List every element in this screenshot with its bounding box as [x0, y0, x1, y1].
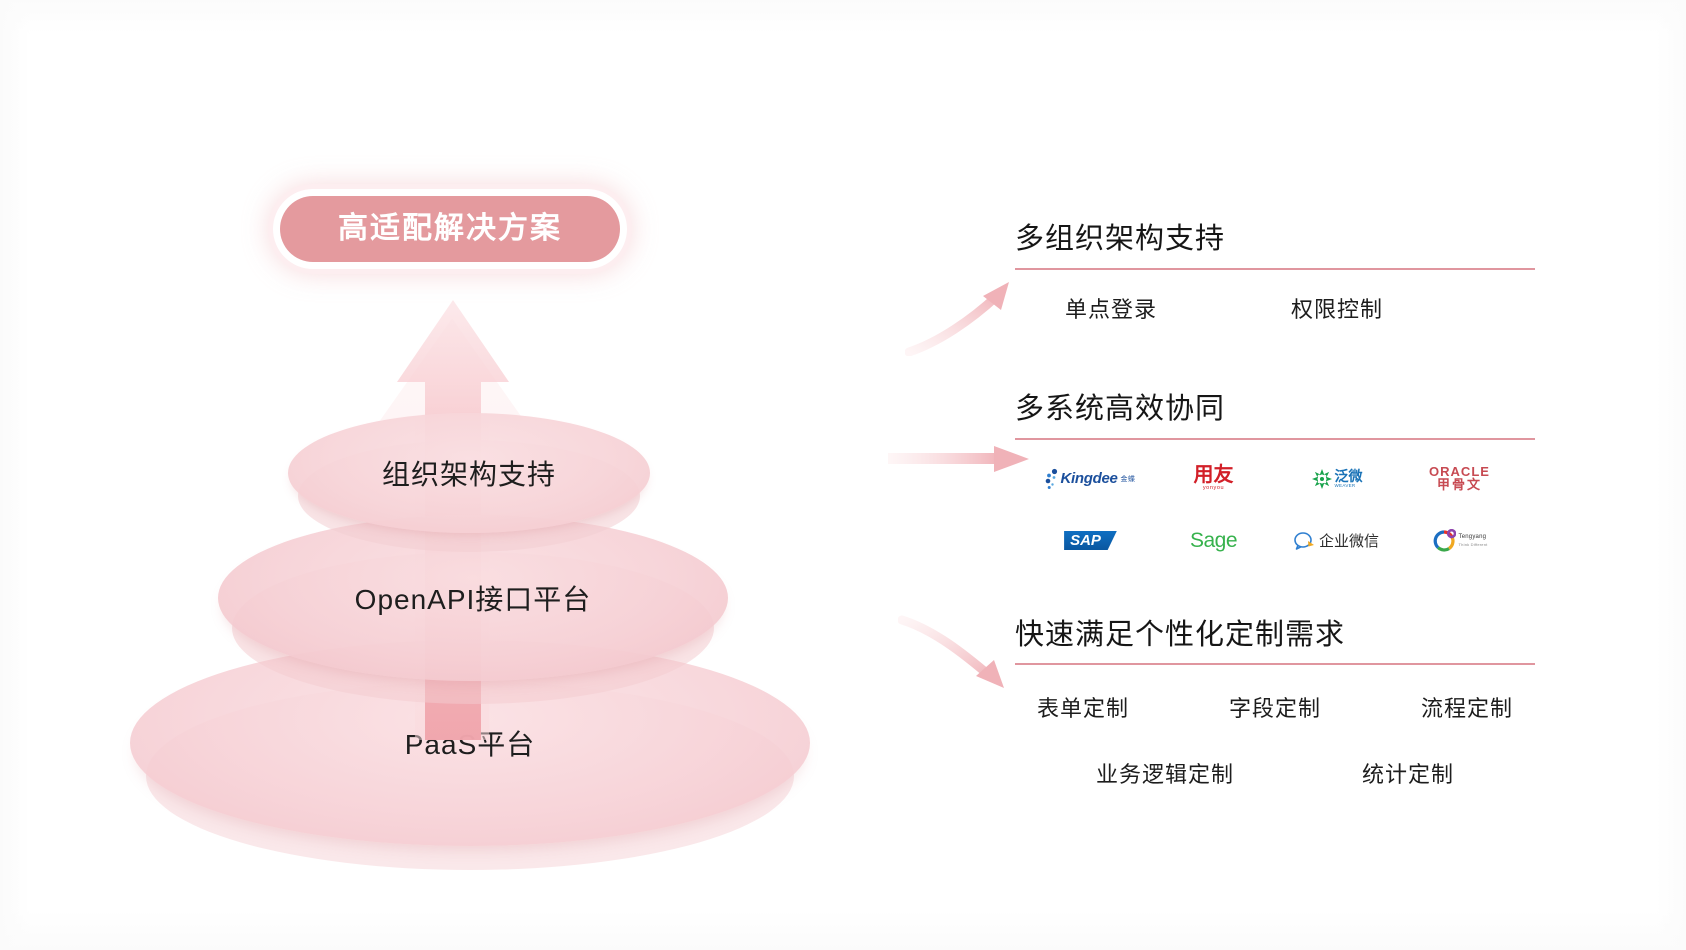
curved-arrow-up-right-icon — [905, 276, 1035, 356]
yonyou-latin-name: yonyou — [1203, 485, 1224, 491]
logo-sage[interactable]: Sage — [1190, 526, 1237, 556]
partner-logo-grid: Kingdee 金蝶 用友 yonyou — [1015, 464, 1535, 556]
section-customization-heading: 快速满足个性化定制需求 — [1015, 618, 1535, 653]
yonyou-wordmark: 用友 — [1194, 466, 1234, 485]
kingdee-dots-icon — [1045, 468, 1060, 490]
weaver-latin-name: WEAVER — [1335, 483, 1363, 488]
edge-fade-bottom — [0, 910, 1686, 950]
tag-permission-control[interactable]: 权限控制 — [1291, 292, 1383, 324]
slide-canvas: 高适配解决方案 PaaS平台 — [0, 0, 1686, 950]
kingdee-cn-name: 金蝶 — [1121, 474, 1136, 484]
edge-fade-left — [0, 0, 30, 950]
section-multi-system-heading: 多系统高效协同 — [1015, 392, 1535, 427]
logo-kingdee[interactable]: Kingdee 金蝶 — [1045, 464, 1135, 494]
section-multi-org-heading: 多组织架构支持 — [1015, 222, 1535, 257]
sap-wordmark: SAP — [1064, 531, 1117, 551]
tag-single-sign-on[interactable]: 单点登录 — [1065, 292, 1157, 324]
section-customization: 快速满足个性化定制需求 表单定制 字段定制 流程定制 业务逻辑定制 统计定制 — [1015, 618, 1535, 790]
customization-tags-row-2: 业务逻辑定制 统计定制 — [1015, 757, 1535, 789]
pyramid-diagram: 高适配解决方案 PaaS平台 — [90, 170, 850, 820]
section-multi-org-rule — [1015, 268, 1535, 270]
pyramid-tier-middle-label: OpenAPI接口平台 — [355, 578, 592, 618]
tag-statistics-customization[interactable]: 统计定制 — [1362, 757, 1454, 789]
logo-wecom[interactable]: 企业微信 — [1294, 526, 1379, 556]
tengyang-wordmark: Tengyang — [1459, 534, 1488, 542]
curved-arrow-down-right-icon — [898, 614, 1033, 694]
sage-wordmark: Sage — [1190, 530, 1237, 551]
tag-form-customization[interactable]: 表单定制 — [1037, 691, 1129, 723]
pyramid-tier-top[interactable]: 组织架构支持 — [288, 413, 650, 533]
logo-sap[interactable]: SAP — [1064, 526, 1117, 556]
section-multi-org: 多组织架构支持 单点登录 权限控制 — [1015, 222, 1535, 324]
edge-fade-right — [1656, 0, 1686, 950]
pyramid-tier-top-label: 组织架构支持 — [382, 453, 556, 493]
tag-process-customization[interactable]: 流程定制 — [1421, 691, 1513, 723]
straight-arrow-right-icon — [888, 442, 1033, 476]
section-multi-system-rule — [1015, 438, 1535, 440]
wecom-bubble-icon — [1294, 531, 1316, 551]
feature-sections: 多组织架构支持 单点登录 权限控制 多系统高效协同 — [1015, 222, 1535, 789]
tengyang-tagline: Think Different — [1459, 542, 1488, 547]
customization-tags-row-1: 表单定制 字段定制 流程定制 — [1015, 691, 1535, 723]
oracle-cn-name: 甲骨文 — [1437, 478, 1482, 492]
section-customization-rule — [1015, 663, 1535, 665]
solution-badge-label: 高适配解决方案 — [338, 214, 562, 244]
logo-tengyang[interactable]: Tengyang Think Different — [1432, 526, 1488, 556]
solution-badge[interactable]: 高适配解决方案 — [280, 196, 620, 262]
logo-oracle[interactable]: ORACLE 甲骨文 — [1429, 464, 1490, 494]
tag-field-customization[interactable]: 字段定制 — [1229, 691, 1321, 723]
weaver-wordmark: 泛微 — [1335, 469, 1363, 483]
kingdee-wordmark: Kingdee — [1060, 470, 1117, 487]
section-multi-system: 多系统高效协同 Kingdee 金蝶 — [1015, 392, 1535, 556]
logo-weaver[interactable]: 泛微 WEAVER — [1311, 464, 1363, 494]
tag-business-logic-customization[interactable]: 业务逻辑定制 — [1096, 757, 1234, 789]
edge-fade-top — [0, 0, 1686, 34]
weaver-star-icon — [1311, 468, 1333, 490]
logo-yonyou[interactable]: 用友 yonyou — [1194, 464, 1234, 494]
wecom-wordmark: 企业微信 — [1319, 530, 1379, 551]
section-multi-org-tags: 单点登录 权限控制 — [1015, 292, 1535, 324]
color-ring-icon — [1432, 529, 1456, 553]
